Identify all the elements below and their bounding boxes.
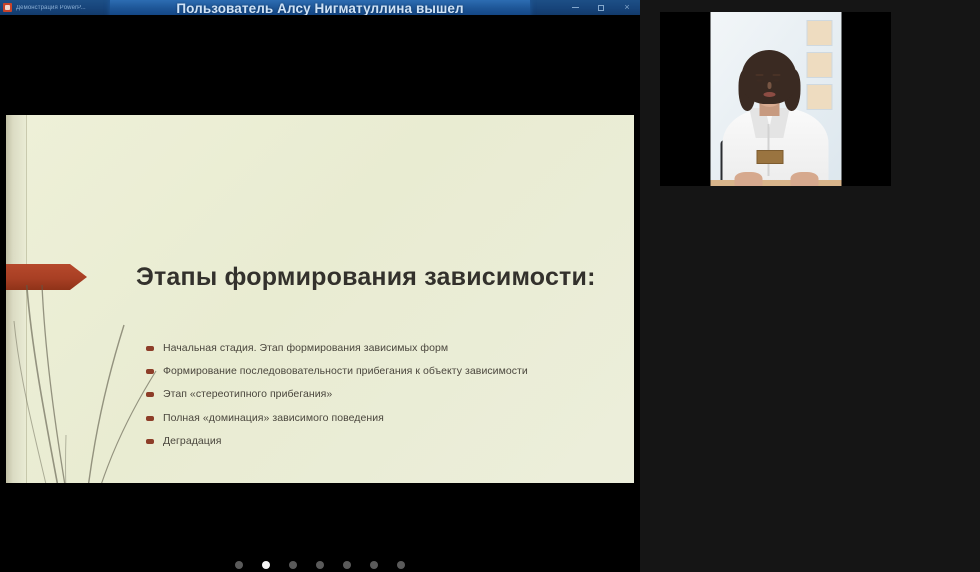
video-conference-screen: Демонстрация PowerP... × Пользователь Ал… bbox=[0, 0, 980, 572]
close-button[interactable]: × bbox=[614, 0, 640, 15]
slide-title: Этапы формирования зависимости: bbox=[136, 263, 606, 292]
slide-dot[interactable] bbox=[235, 561, 243, 569]
bullet-marker-icon bbox=[146, 416, 154, 421]
wall-frame bbox=[806, 52, 832, 78]
slide-dot-active[interactable] bbox=[262, 561, 270, 569]
bullet-marker-icon bbox=[146, 439, 154, 444]
minimize-button[interactable] bbox=[562, 0, 588, 15]
person-nose bbox=[767, 82, 771, 89]
slide-dot[interactable] bbox=[397, 561, 405, 569]
wall-frame bbox=[806, 20, 832, 46]
bullet-text: Этап «стереотипного прибегания» bbox=[163, 387, 332, 402]
slide-bullet-list: Начальная стадия. Этап формирования зави… bbox=[146, 341, 566, 457]
wall-frame bbox=[806, 84, 832, 110]
list-item: Деградация bbox=[146, 434, 566, 449]
bullet-text: Полная «доминация» зависимого поведения bbox=[163, 411, 384, 426]
bullet-marker-icon bbox=[146, 346, 154, 351]
letterbox-top bbox=[0, 15, 640, 115]
list-item: Формирование последововательности прибег… bbox=[146, 364, 566, 379]
slide-dot[interactable] bbox=[316, 561, 324, 569]
person-mouth bbox=[763, 92, 775, 97]
person-brow-left bbox=[755, 74, 763, 76]
list-item: Полная «доминация» зависимого поведения bbox=[146, 411, 566, 426]
maximize-icon bbox=[598, 5, 604, 11]
list-item: Начальная стадия. Этап формирования зави… bbox=[146, 341, 566, 356]
slide-dot[interactable] bbox=[343, 561, 351, 569]
bullet-text: Деградация bbox=[163, 434, 222, 449]
person-name-badge bbox=[756, 150, 783, 164]
screen-share-region: Демонстрация PowerP... × Пользователь Ал… bbox=[0, 0, 640, 572]
bullet-marker-icon bbox=[146, 369, 154, 374]
person-hand-left bbox=[734, 172, 762, 186]
participant-video-tile[interactable] bbox=[660, 12, 891, 186]
slide-dot[interactable] bbox=[370, 561, 378, 569]
bullet-text: Начальная стадия. Этап формирования зави… bbox=[163, 341, 448, 356]
participants-panel bbox=[640, 0, 980, 572]
person-hand-right bbox=[790, 172, 818, 186]
presentation-slide: Этапы формирования зависимости: Начальна… bbox=[6, 115, 634, 483]
window-controls: × bbox=[562, 0, 640, 15]
person-brow-right bbox=[772, 74, 780, 76]
person-eye-right bbox=[773, 79, 779, 82]
notification-text: Пользователь Алсу Нигматуллина вышел bbox=[176, 1, 463, 16]
bullet-marker-icon bbox=[146, 392, 154, 397]
slide-dot[interactable] bbox=[289, 561, 297, 569]
bullet-text: Формирование последововательности прибег… bbox=[163, 364, 528, 379]
desk-surface bbox=[710, 180, 841, 186]
slide-navigation-dots[interactable] bbox=[0, 561, 640, 569]
maximize-button[interactable] bbox=[588, 0, 614, 15]
window-title: Демонстрация PowerP... bbox=[16, 5, 86, 11]
letterbox-bottom bbox=[0, 483, 640, 572]
person-eye-left bbox=[756, 79, 762, 82]
minimize-icon bbox=[572, 7, 579, 8]
list-item: Этап «стереотипного прибегания» bbox=[146, 387, 566, 402]
webcam-video-feed bbox=[710, 12, 841, 186]
powerpoint-icon bbox=[3, 3, 12, 12]
